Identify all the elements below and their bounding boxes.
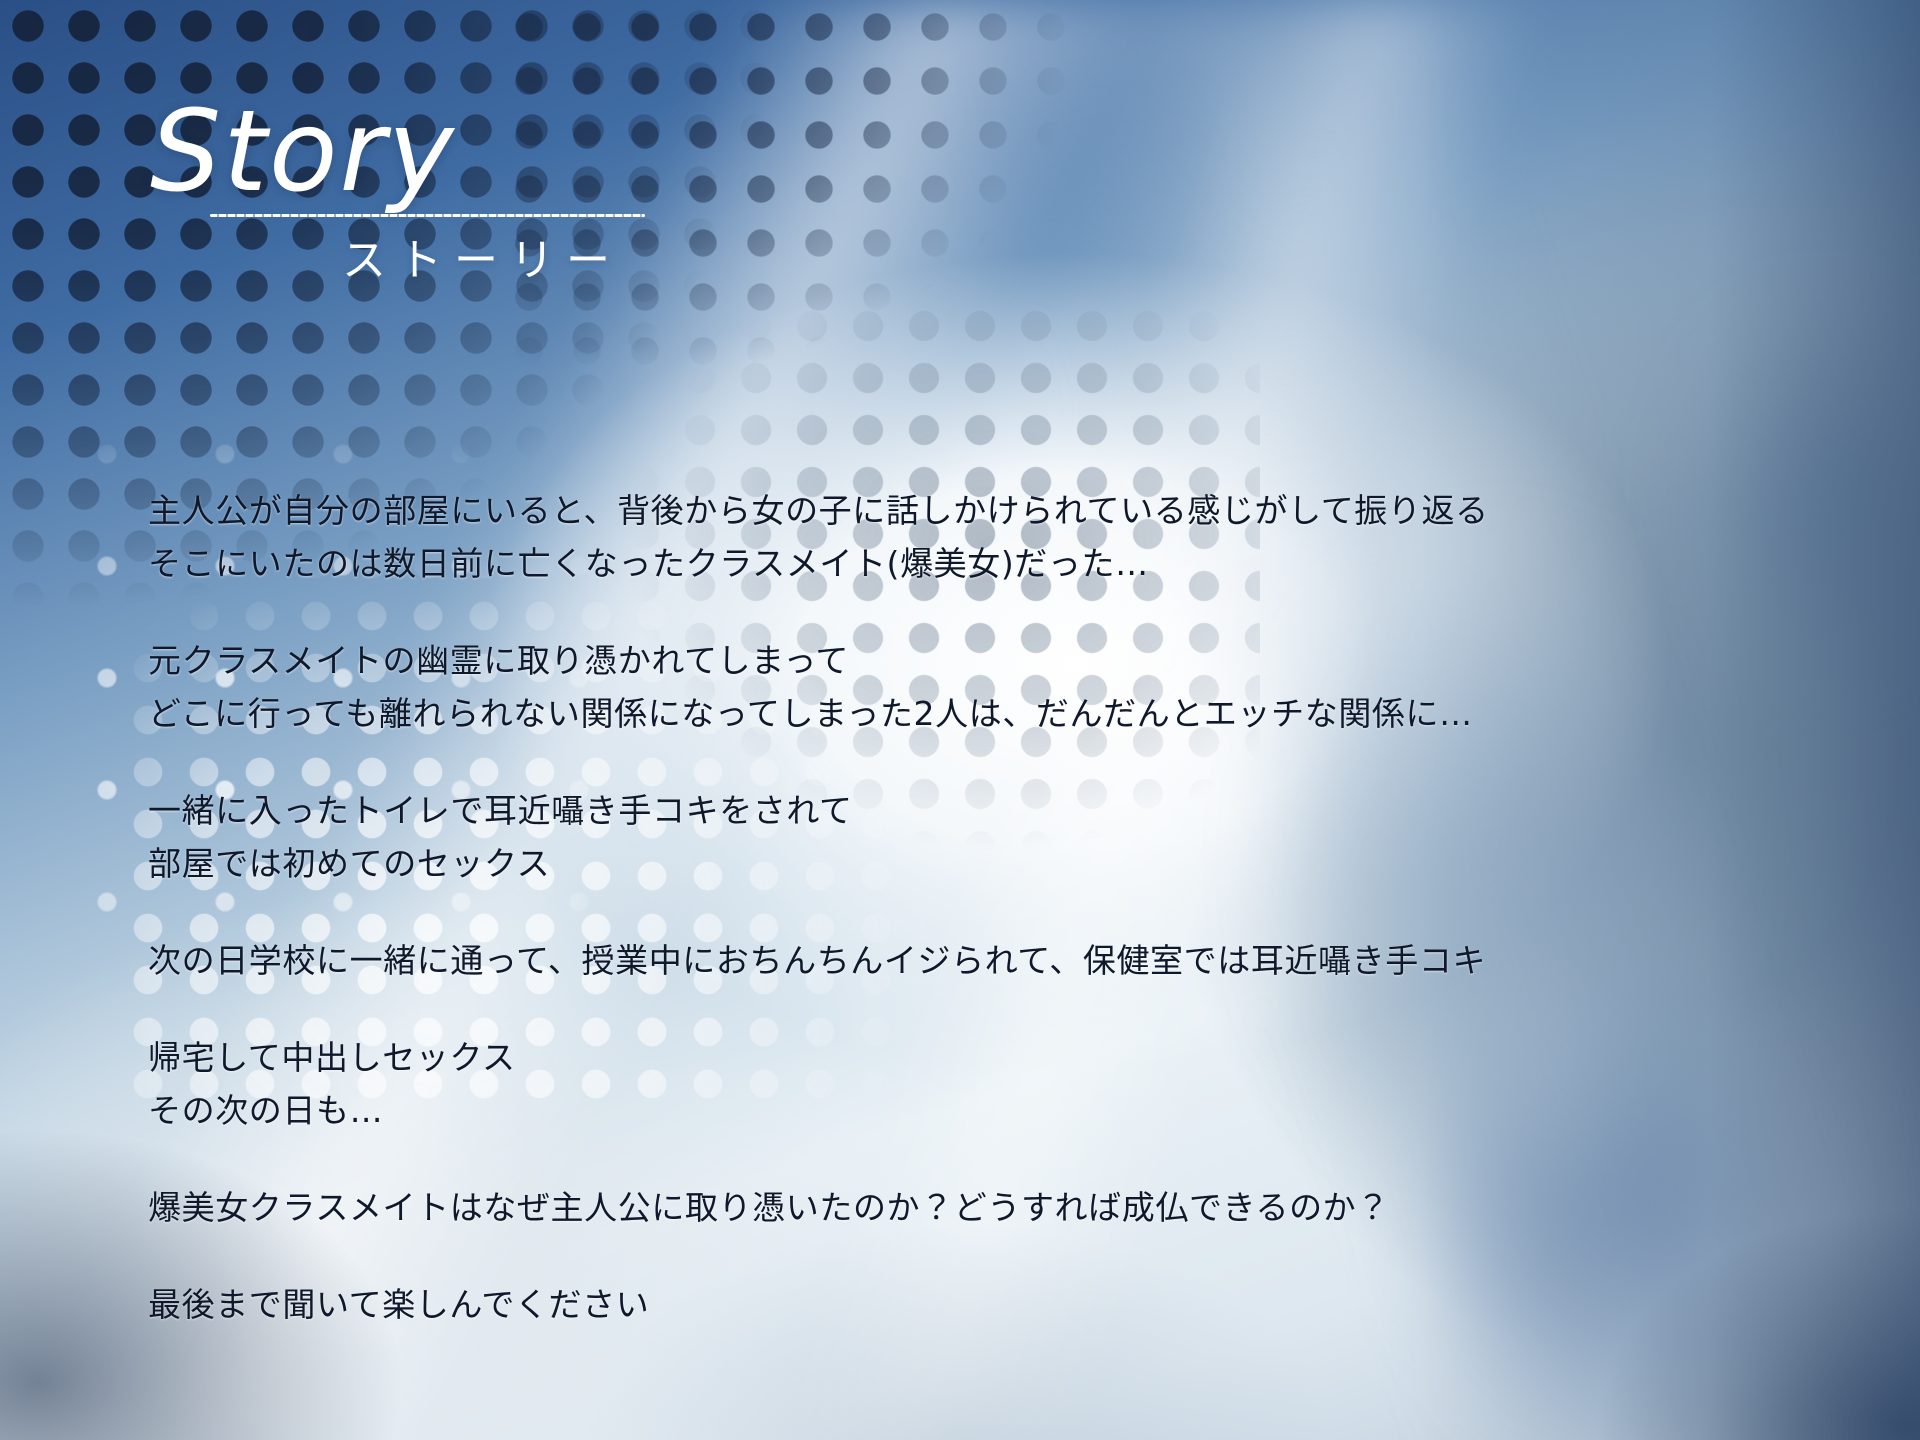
page-title-block: Story ストーリー [150, 96, 910, 296]
story-paragraph: 一緒に入ったトイレで耳近囁き手コキをされて 部屋では初めてのセックス [148, 784, 1828, 890]
story-line: 部屋では初めてのセックス [148, 837, 1828, 890]
story-paragraph: 爆美女クラスメイトはなぜ主人公に取り憑いたのか？どうすれば成仏できるのか？ [148, 1181, 1828, 1234]
story-text-body: 主人公が自分の部屋にいると、背後から女の子に話しかけられている感じがして振り返る… [148, 484, 1828, 1331]
story-paragraph: 次の日学校に一緒に通って、授業中におちんちんイジられて、保健室では耳近囁き手コキ [148, 934, 1828, 987]
story-line: どこに行っても離れられない関係になってしまった2人は、だんだんとエッチな関係に… [148, 687, 1828, 740]
page-title: Story [150, 96, 456, 208]
title-divider [210, 214, 645, 217]
story-line: 爆美女クラスメイトはなぜ主人公に取り憑いたのか？どうすれば成仏できるのか？ [148, 1181, 1828, 1234]
story-paragraph: 元クラスメイトの幽霊に取り憑かれてしまって どこに行っても離れられない関係になっ… [148, 634, 1828, 740]
story-slide: Story ストーリー 主人公が自分の部屋にいると、背後から女の子に話しかけられ… [0, 0, 1920, 1440]
story-line: 一緒に入ったトイレで耳近囁き手コキをされて [148, 784, 1828, 837]
story-line: 主人公が自分の部屋にいると、背後から女の子に話しかけられている感じがして振り返る [148, 484, 1828, 537]
story-line: 帰宅して中出しセックス [148, 1031, 1828, 1084]
story-line: その次の日も… [148, 1084, 1828, 1137]
story-paragraph: 最後まで聞いて楽しんでください [148, 1278, 1828, 1331]
story-line: 次の日学校に一緒に通って、授業中におちんちんイジられて、保健室では耳近囁き手コキ [148, 934, 1828, 987]
page-subtitle: ストーリー [342, 224, 622, 288]
story-line: そこにいたのは数日前に亡くなったクラスメイト(爆美女)だった… [148, 537, 1828, 590]
story-line: 最後まで聞いて楽しんでください [148, 1278, 1828, 1331]
story-paragraph: 帰宅して中出しセックス その次の日も… [148, 1031, 1828, 1137]
story-paragraph: 主人公が自分の部屋にいると、背後から女の子に話しかけられている感じがして振り返る… [148, 484, 1828, 590]
story-line: 元クラスメイトの幽霊に取り憑かれてしまって [148, 634, 1828, 687]
